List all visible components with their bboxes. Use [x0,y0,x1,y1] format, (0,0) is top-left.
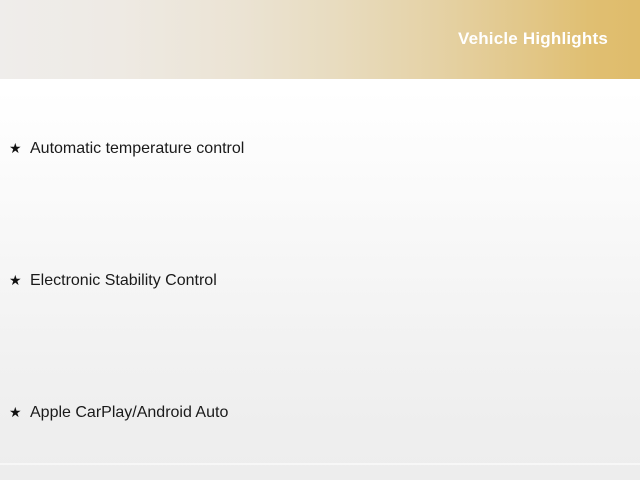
list-item: ★ Electronic Stability Control [9,270,217,291]
list-item-label: Apple CarPlay/Android Auto [30,403,228,423]
highlights-list: ★ Automatic temperature control ★ Electr… [0,79,640,480]
star-icon: ★ [9,270,30,290]
list-item-label: Electronic Stability Control [30,271,217,291]
page-title: Vehicle Highlights [458,29,608,49]
slide-header-band: Vehicle Highlights [0,0,640,79]
list-item: ★ Automatic temperature control [9,138,244,159]
slide-canvas: Vehicle Highlights ★ Automatic temperatu… [0,0,640,480]
list-item-label: Automatic temperature control [30,139,244,159]
star-icon: ★ [9,138,30,158]
star-icon: ★ [9,402,30,422]
list-item: ★ Apple CarPlay/Android Auto [9,402,228,423]
footer-divider [0,463,640,465]
